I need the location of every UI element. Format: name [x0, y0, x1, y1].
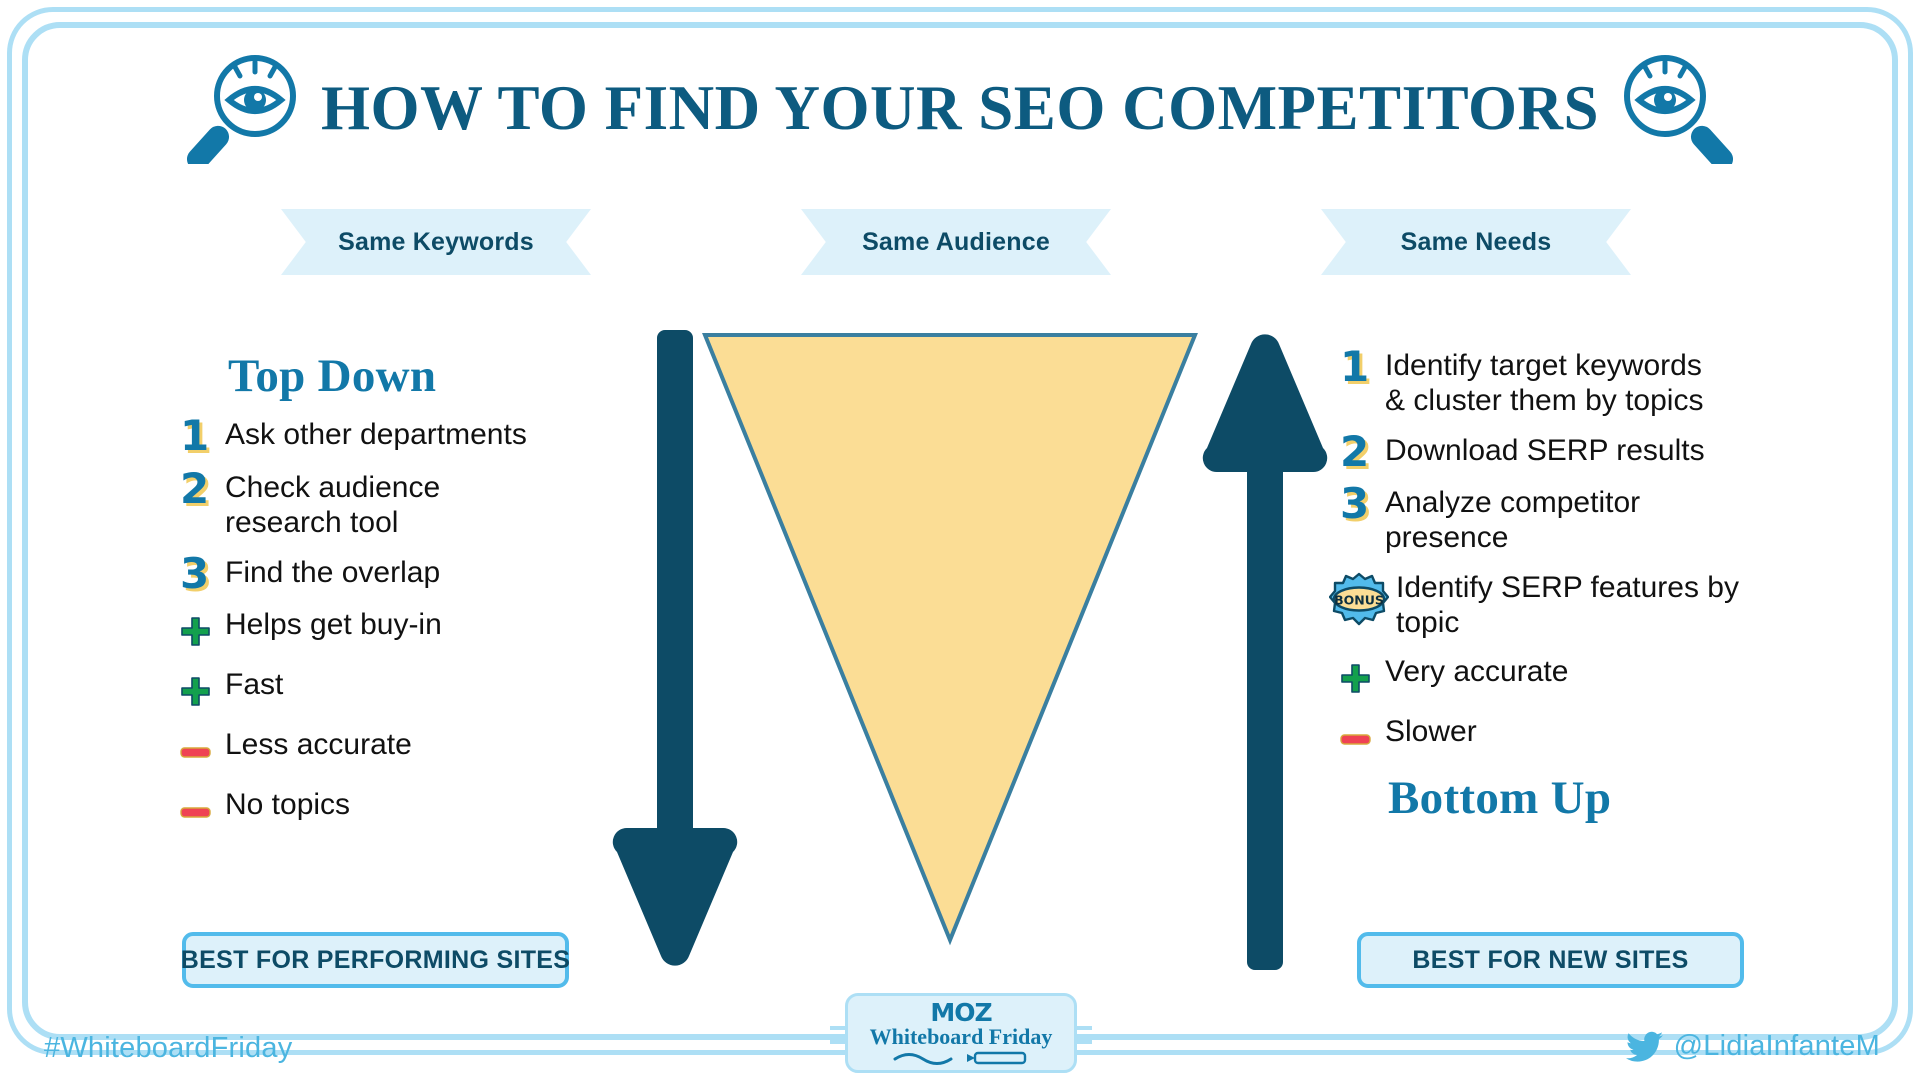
logo-tick-left [830, 1040, 846, 1044]
list-item-label: Download SERP results [1385, 433, 1705, 469]
list-item-label: Ask other departments [225, 417, 527, 453]
step-number-icon: 3 [1340, 485, 1374, 524]
svg-text:BONUS: BONUS [1334, 592, 1384, 607]
infographic-poster: HOW TO FIND YOUR SEO COMPETITORS Same Ke… [0, 0, 1920, 1080]
list-item-label: Helps get buy-in [225, 607, 442, 643]
list-item: Very accurate [1340, 654, 1800, 700]
footer-twitter-handle: @LidiaInfanteM [1674, 1030, 1880, 1063]
footer-hashtag: #WhiteboardFriday [44, 1032, 292, 1065]
list-item: Helps get buy-in [180, 607, 640, 653]
list-item: BONUS Identify SERP features bytopic [1340, 570, 1800, 641]
list-item: Less accurate [180, 727, 640, 773]
minus-icon [180, 727, 214, 773]
squiggle-and-marker-icon [891, 1050, 1031, 1066]
list-item-label: Fast [225, 667, 283, 703]
list-item: 1 Identify target keywords& cluster them… [1340, 348, 1800, 419]
plus-icon [180, 607, 214, 653]
list-item: No topics [180, 787, 640, 833]
magnifier-eye-icon [187, 52, 305, 164]
list-item-label: Less accurate [225, 727, 412, 763]
list-item-label: Check audienceresearch tool [225, 470, 440, 541]
list-item-label: Slower [1385, 714, 1477, 750]
step-number-icon: 2 [1340, 433, 1374, 472]
minus-icon [180, 787, 214, 833]
list-item-label: Very accurate [1385, 654, 1568, 690]
pill-label: BEST FOR NEW SITES [1412, 946, 1688, 975]
list-item: Fast [180, 667, 640, 713]
ribbon-same-needs: Same Needs [1321, 209, 1631, 275]
plus-icon [1340, 654, 1374, 700]
logo-brand: MOZ [930, 1000, 991, 1025]
plus-icon [180, 667, 214, 713]
list-item: 3 Analyze competitorpresence [1340, 485, 1800, 556]
page-title: HOW TO FIND YOUR SEO COMPETITORS [321, 72, 1599, 145]
best-for-new-sites-badge[interactable]: BEST FOR NEW SITES [1357, 932, 1744, 988]
step-number-icon: 1 [1340, 348, 1374, 387]
minus-icon [1340, 714, 1374, 760]
ribbon-label: Same Keywords [338, 228, 534, 257]
column-heading: Bottom Up [1340, 774, 1800, 823]
pill-label: BEST FOR PERFORMING SITES [181, 946, 570, 975]
twitter-bird-icon [1626, 1031, 1664, 1063]
ribbon-label: Same Audience [862, 228, 1050, 257]
list-item: Slower [1340, 714, 1800, 760]
list-item: 1 Ask other departments [180, 417, 640, 456]
logo-series: Whiteboard Friday [870, 1025, 1053, 1049]
moz-whiteboard-friday-logo[interactable]: MOZ Whiteboard Friday [845, 993, 1077, 1073]
inverted-triangle-funnel [700, 330, 1200, 950]
footer-handle-group: @LidiaInfanteM [1626, 1030, 1880, 1063]
step-number-icon: 2 [180, 470, 214, 509]
logo-tick-right [1076, 1026, 1092, 1030]
list-item-label: No topics [225, 787, 350, 823]
magnifier-eye-icon [1615, 52, 1733, 164]
column-bottom-up: 1 Identify target keywords& cluster them… [1340, 348, 1800, 824]
list-item-label: Analyze competitorpresence [1385, 485, 1640, 556]
bonus-badge-icon: BONUS [1329, 570, 1385, 633]
list-item: 3 Find the overlap [180, 555, 640, 594]
arrow-up [1200, 330, 1350, 970]
logo-tick-right [1076, 1040, 1092, 1044]
list-item: 2 Check audienceresearch tool [180, 470, 640, 541]
title-row: HOW TO FIND YOUR SEO COMPETITORS [0, 52, 1920, 164]
step-number-icon: 3 [180, 555, 214, 594]
list-item-label: Identify target keywords& cluster them b… [1385, 348, 1703, 419]
list-item: 2 Download SERP results [1340, 433, 1800, 472]
best-for-performing-sites-badge[interactable]: BEST FOR PERFORMING SITES [182, 932, 569, 988]
column-top-down: Top Down 1 Ask other departments 2 Check… [180, 352, 640, 847]
column-heading: Top Down [180, 352, 640, 401]
ribbon-same-keywords: Same Keywords [281, 209, 591, 275]
step-number-icon: 1 [180, 417, 214, 456]
logo-tick-left [830, 1026, 846, 1030]
ribbon-same-audience: Same Audience [801, 209, 1111, 275]
list-item-label: Identify SERP features bytopic [1396, 570, 1739, 641]
ribbon-label: Same Needs [1401, 228, 1552, 257]
list-item-label: Find the overlap [225, 555, 440, 591]
